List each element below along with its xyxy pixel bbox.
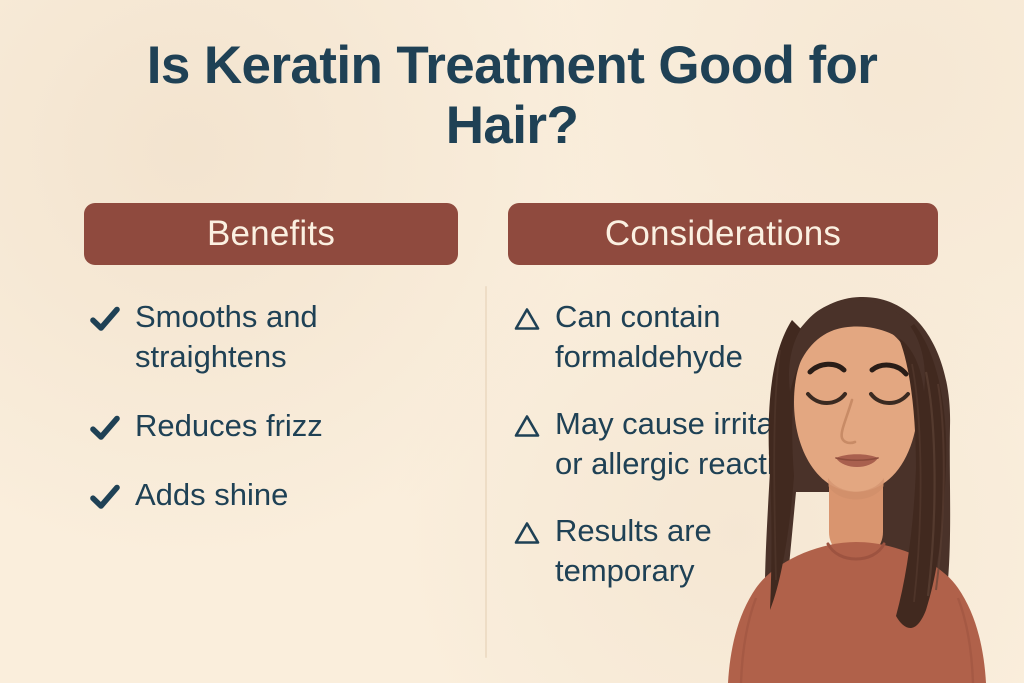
list-item-label: Smooths and straightens (135, 297, 460, 377)
column-header-considerations-label: Considerations (605, 214, 841, 254)
warning-triangle-icon (512, 518, 542, 548)
warning-triangle-icon (512, 411, 542, 441)
list-item: Adds shine (88, 475, 460, 515)
column-header-benefits-label: Benefits (207, 214, 335, 254)
benefits-list: Smooths and straightens Reduces frizz Ad… (88, 297, 460, 515)
warning-triangle-icon (512, 304, 542, 334)
list-item-label: Reduces frizz (135, 406, 460, 446)
infographic-canvas: Is Keratin Treatment Good for Hair? Bene… (0, 0, 1024, 683)
column-header-considerations: Considerations (508, 203, 938, 265)
check-icon (88, 480, 122, 514)
list-item: Reduces frizz (88, 406, 460, 446)
list-item: Smooths and straightens (88, 297, 460, 377)
column-header-benefits: Benefits (84, 203, 458, 265)
check-icon (88, 411, 122, 445)
page-title: Is Keratin Treatment Good for Hair? (0, 36, 1024, 156)
woman-illustration (700, 280, 1024, 683)
column-divider (485, 286, 487, 658)
list-item-label: Adds shine (135, 475, 460, 515)
check-icon (88, 302, 122, 336)
